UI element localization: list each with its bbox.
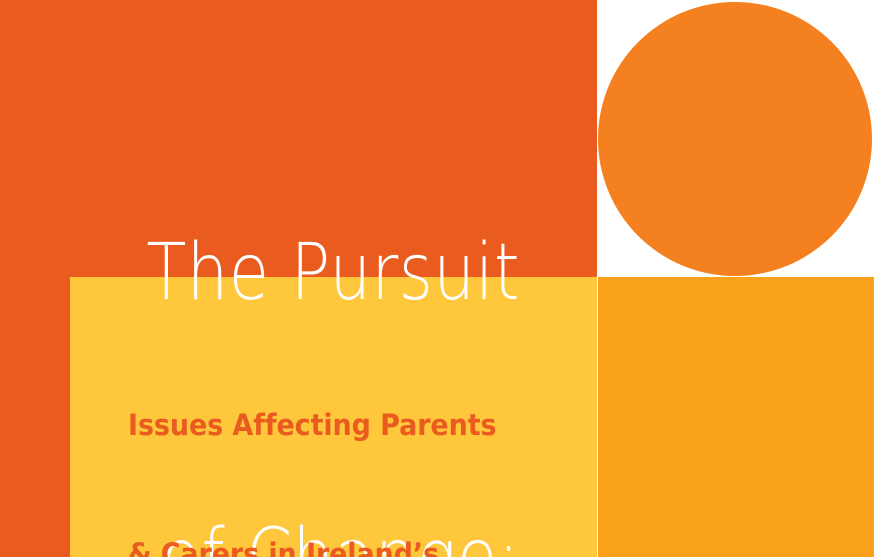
decorative-circle [598,2,872,276]
page-subtitle: Issues Affecting Parents & Carers in Ire… [128,318,568,557]
page-subtitle-line-2: & Carers in Ireland’s [128,533,537,557]
page-subtitle-line-1: Issues Affecting Parents [128,404,537,447]
page-title-line-1: The Pursuit [83,226,520,321]
accent-panel-block [598,277,874,557]
report-cover: The Pursuit of Change: Issues Affecting … [0,0,874,557]
